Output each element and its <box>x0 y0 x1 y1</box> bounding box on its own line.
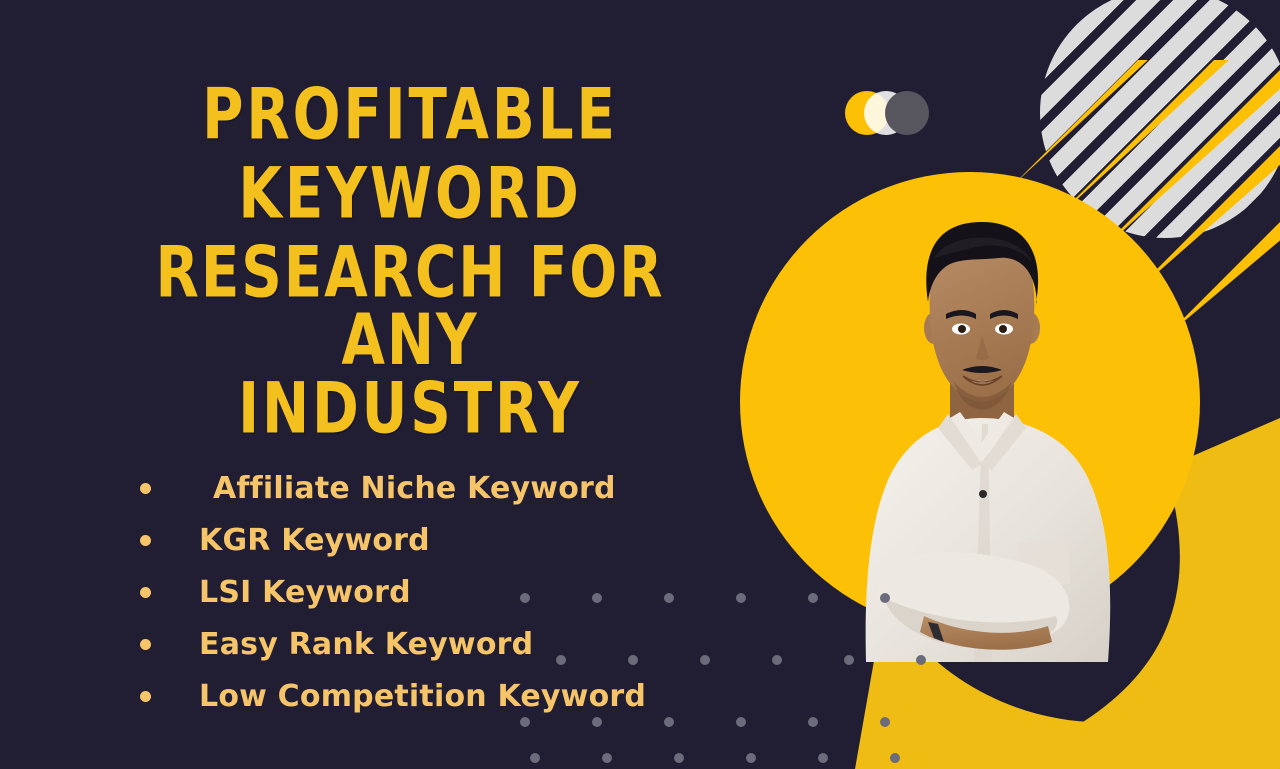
bullet-dot-icon <box>140 691 151 702</box>
list-item-label: KGR Keyword <box>199 523 430 558</box>
feature-list: Affiliate Niche KeywordKGR KeywordLSI Ke… <box>140 462 780 722</box>
page-title: Profitable Keyword Research for Any Indu… <box>60 82 760 433</box>
decorative-dot <box>674 753 684 763</box>
bullet-dot-icon <box>140 587 151 598</box>
list-item-label: Low Competition Keyword <box>199 679 646 714</box>
decorative-dot <box>602 753 612 763</box>
list-item: LSI Keyword <box>140 566 780 618</box>
logo-mark <box>845 91 929 135</box>
logo-circle-gray <box>885 91 929 135</box>
list-item: KGR Keyword <box>140 514 780 566</box>
headline-line-2: Keyword <box>81 161 739 228</box>
presenter-portrait <box>822 212 1142 662</box>
list-item: Low Competition Keyword <box>140 670 780 722</box>
list-item-label: Easy Rank Keyword <box>199 627 533 662</box>
bullet-dot-icon <box>140 535 151 546</box>
bullet-dot-icon <box>140 483 151 494</box>
list-item: Easy Rank Keyword <box>140 618 780 670</box>
decorative-dot <box>808 717 818 727</box>
list-item: Affiliate Niche Keyword <box>140 462 780 514</box>
gig-banner-canvas: Profitable Keyword Research for Any Indu… <box>0 0 1280 769</box>
headline-line-4: Industry <box>81 376 739 443</box>
bullet-dot-icon <box>140 639 151 650</box>
decorative-dot <box>818 753 828 763</box>
decorative-dot <box>808 593 818 603</box>
decorative-dot <box>530 753 540 763</box>
headline-line-1: Profitable <box>81 82 739 149</box>
decorative-dot <box>746 753 756 763</box>
list-item-label: Affiliate Niche Keyword <box>199 471 616 506</box>
headline-line-3: Research for Any <box>81 240 739 375</box>
decorative-dot <box>890 753 900 763</box>
decorative-dot <box>880 717 890 727</box>
list-item-label: LSI Keyword <box>199 575 411 610</box>
